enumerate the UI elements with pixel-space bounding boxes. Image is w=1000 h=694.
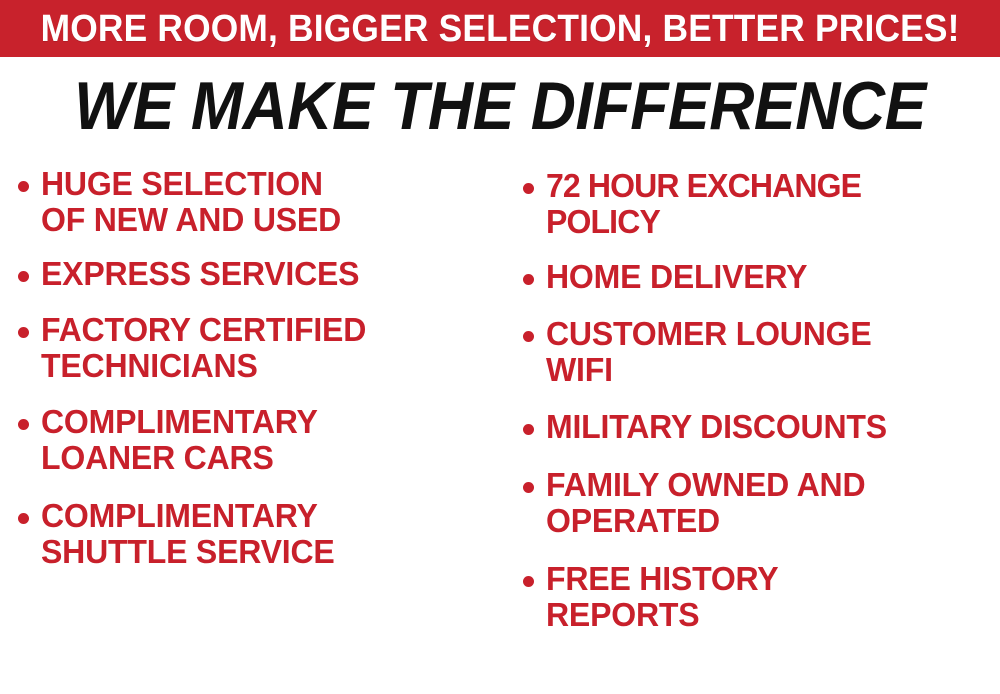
list-item: 72 HOUR EXCHANGE POLICY	[523, 168, 1000, 240]
list-item-label: HUGE SELECTION OF NEW AND USED	[41, 166, 341, 238]
list-item-label: COMPLIMENTARY LOANER CARS	[41, 404, 318, 476]
bullet-dot-icon	[523, 274, 534, 285]
list-item-label: 72 HOUR EXCHANGE POLICY	[546, 168, 861, 240]
bullet-dot-icon	[523, 424, 534, 435]
benefits-columns: HUGE SELECTION OF NEW AND USED EXPRESS S…	[0, 160, 1000, 694]
bullet-dot-icon	[18, 327, 29, 338]
list-item: COMPLIMENTARY SHUTTLE SERVICE	[18, 498, 505, 570]
list-item: MILITARY DISCOUNTS	[523, 409, 1000, 445]
bullet-dot-icon	[523, 183, 534, 194]
list-item: HOME DELIVERY	[523, 259, 1000, 295]
promo-poster: MORE ROOM, BIGGER SELECTION, BETTER PRIC…	[0, 0, 1000, 694]
banner-headline-text: MORE ROOM, BIGGER SELECTION, BETTER PRIC…	[40, 10, 959, 48]
list-item: HUGE SELECTION OF NEW AND USED	[18, 166, 505, 238]
list-item-label: FREE HISTORY REPORTS	[546, 561, 778, 633]
list-item-label: MILITARY DISCOUNTS	[546, 409, 887, 445]
list-item-label: EXPRESS SERVICES	[41, 256, 359, 292]
list-item: COMPLIMENTARY LOANER CARS	[18, 404, 505, 476]
bullet-dot-icon	[523, 331, 534, 342]
list-item-label: FACTORY CERTIFIED TECHNICIANS	[41, 312, 366, 384]
benefits-column-left: HUGE SELECTION OF NEW AND USED EXPRESS S…	[0, 160, 505, 598]
list-item-label: HOME DELIVERY	[546, 259, 807, 295]
list-item: FACTORY CERTIFIED TECHNICIANS	[18, 312, 505, 384]
list-item: EXPRESS SERVICES	[18, 256, 505, 292]
list-item: CUSTOMER LOUNGE WIFI	[523, 316, 1000, 388]
bullet-dot-icon	[523, 576, 534, 587]
list-item: FAMILY OWNED AND OPERATED	[523, 467, 1000, 539]
list-item-label: COMPLIMENTARY SHUTTLE SERVICE	[41, 498, 335, 570]
bullet-dot-icon	[18, 419, 29, 430]
list-item-label: FAMILY OWNED AND OPERATED	[546, 467, 865, 539]
list-item: FREE HISTORY REPORTS	[523, 561, 1000, 633]
top-banner: MORE ROOM, BIGGER SELECTION, BETTER PRIC…	[0, 0, 1000, 57]
benefits-column-right: 72 HOUR EXCHANGE POLICY HOME DELIVERY CU…	[505, 160, 1000, 661]
list-item-label: CUSTOMER LOUNGE WIFI	[546, 316, 872, 388]
bullet-dot-icon	[18, 271, 29, 282]
page-title: WE MAKE THE DIFFERENCE	[40, 72, 960, 140]
bullet-dot-icon	[523, 482, 534, 493]
bullet-dot-icon	[18, 513, 29, 524]
bullet-dot-icon	[18, 181, 29, 192]
